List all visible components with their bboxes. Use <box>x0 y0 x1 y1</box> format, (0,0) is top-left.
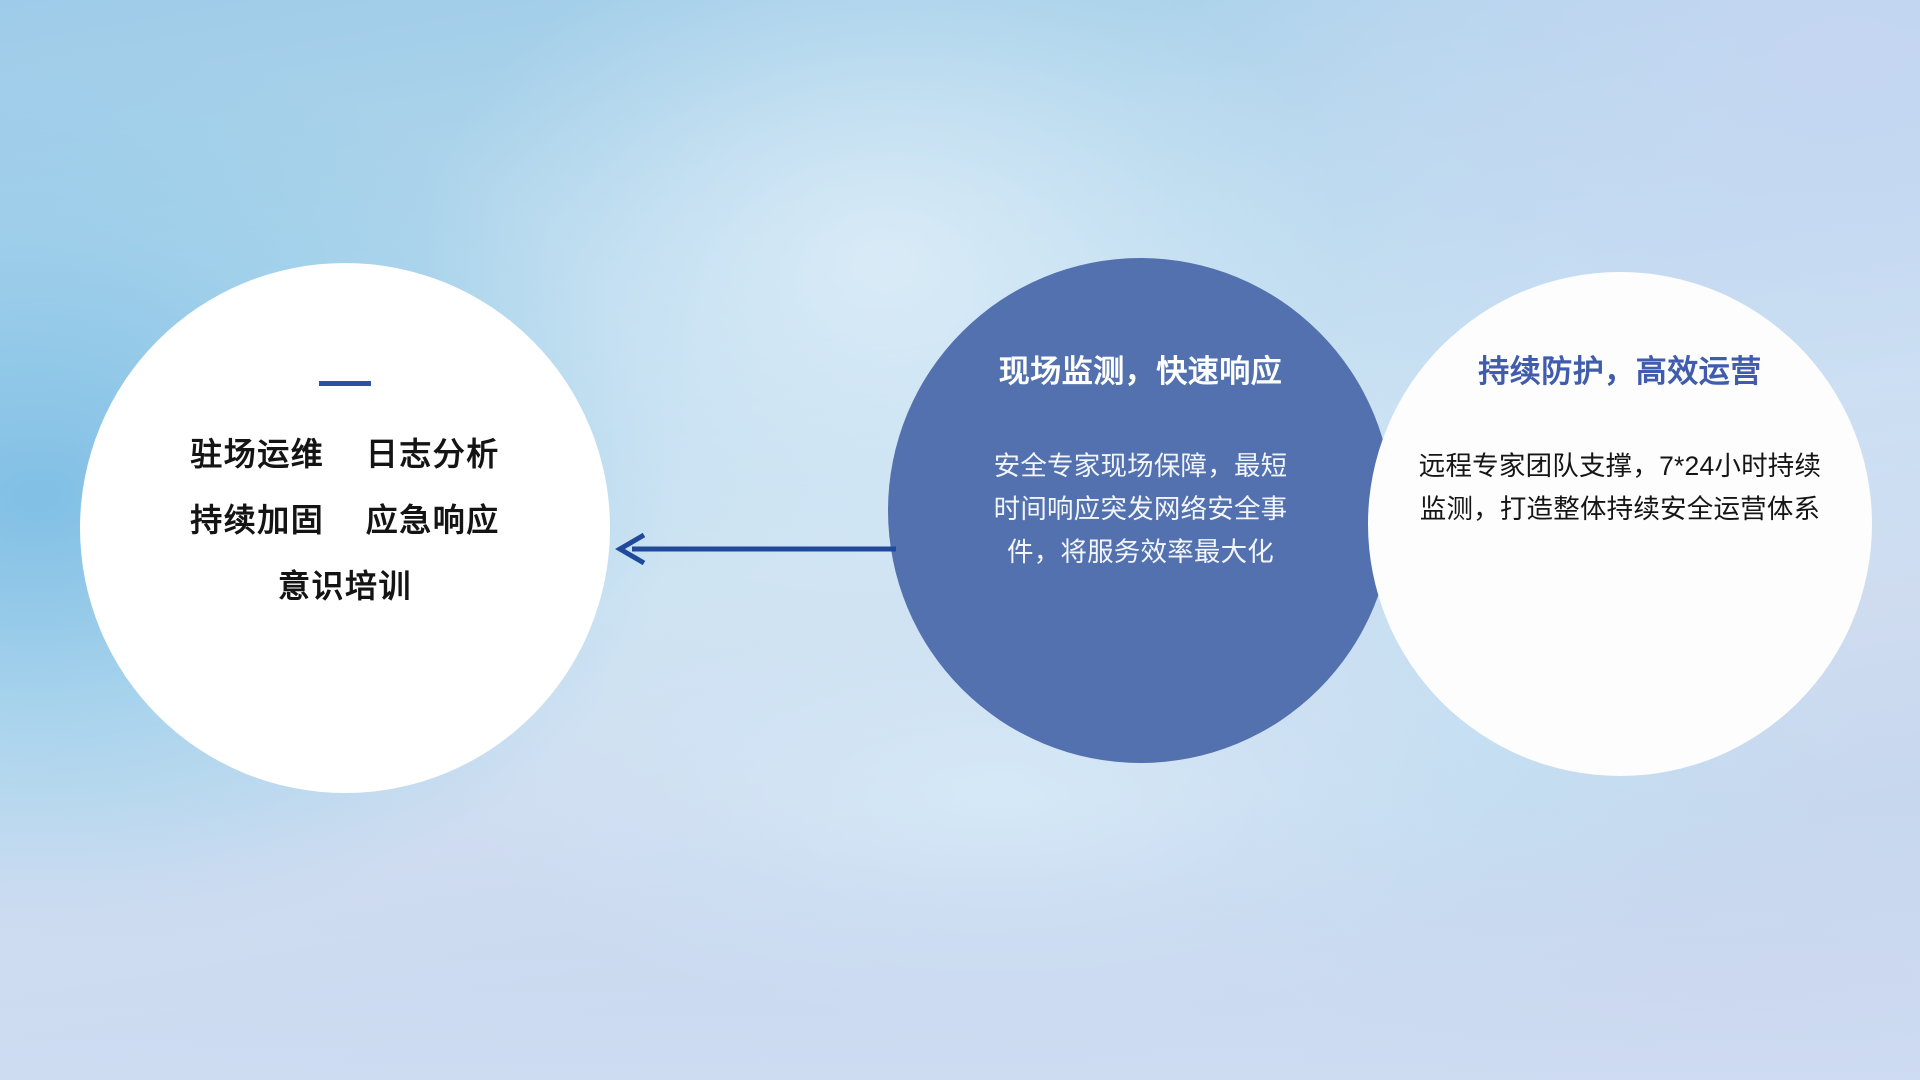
onsite-monitoring-content: 现场监测，快速响应 安全专家现场保障，最短时间响应突发网络安全事件，将服务效率最… <box>888 258 1393 763</box>
onsite-monitoring-body: 安全专家现场保障，最短时间响应突发网络安全事件，将服务效率最大化 <box>991 445 1291 574</box>
divider-dash <box>319 381 371 386</box>
slide-canvas: 驻场运维 日志分析 持续加固 应急响应 意识培训 现场监测，快速响应 安全专家现… <box>0 0 1920 1080</box>
onsite-monitoring-title: 现场监测，快速响应 <box>999 346 1283 391</box>
capability-line-2: 持续加固 应急响应 <box>190 504 500 536</box>
continuous-protection-content: 持续防护，高效运营 远程专家团队支撑，7*24小时持续监测，打造整体持续安全运营… <box>1368 272 1872 776</box>
capability-list-content: 驻场运维 日志分析 持续加固 应急响应 意识培训 <box>80 263 610 793</box>
continuous-protection-title: 持续防护，高效运营 <box>1478 346 1762 391</box>
capability-line-3: 意识培训 <box>278 570 412 602</box>
capability-line-1: 驻场运维 日志分析 <box>190 438 500 470</box>
continuous-protection-body: 远程专家团队支撑，7*24小时持续监测，打造整体持续安全运营体系 <box>1415 445 1825 531</box>
leftward-arrow <box>600 520 900 580</box>
